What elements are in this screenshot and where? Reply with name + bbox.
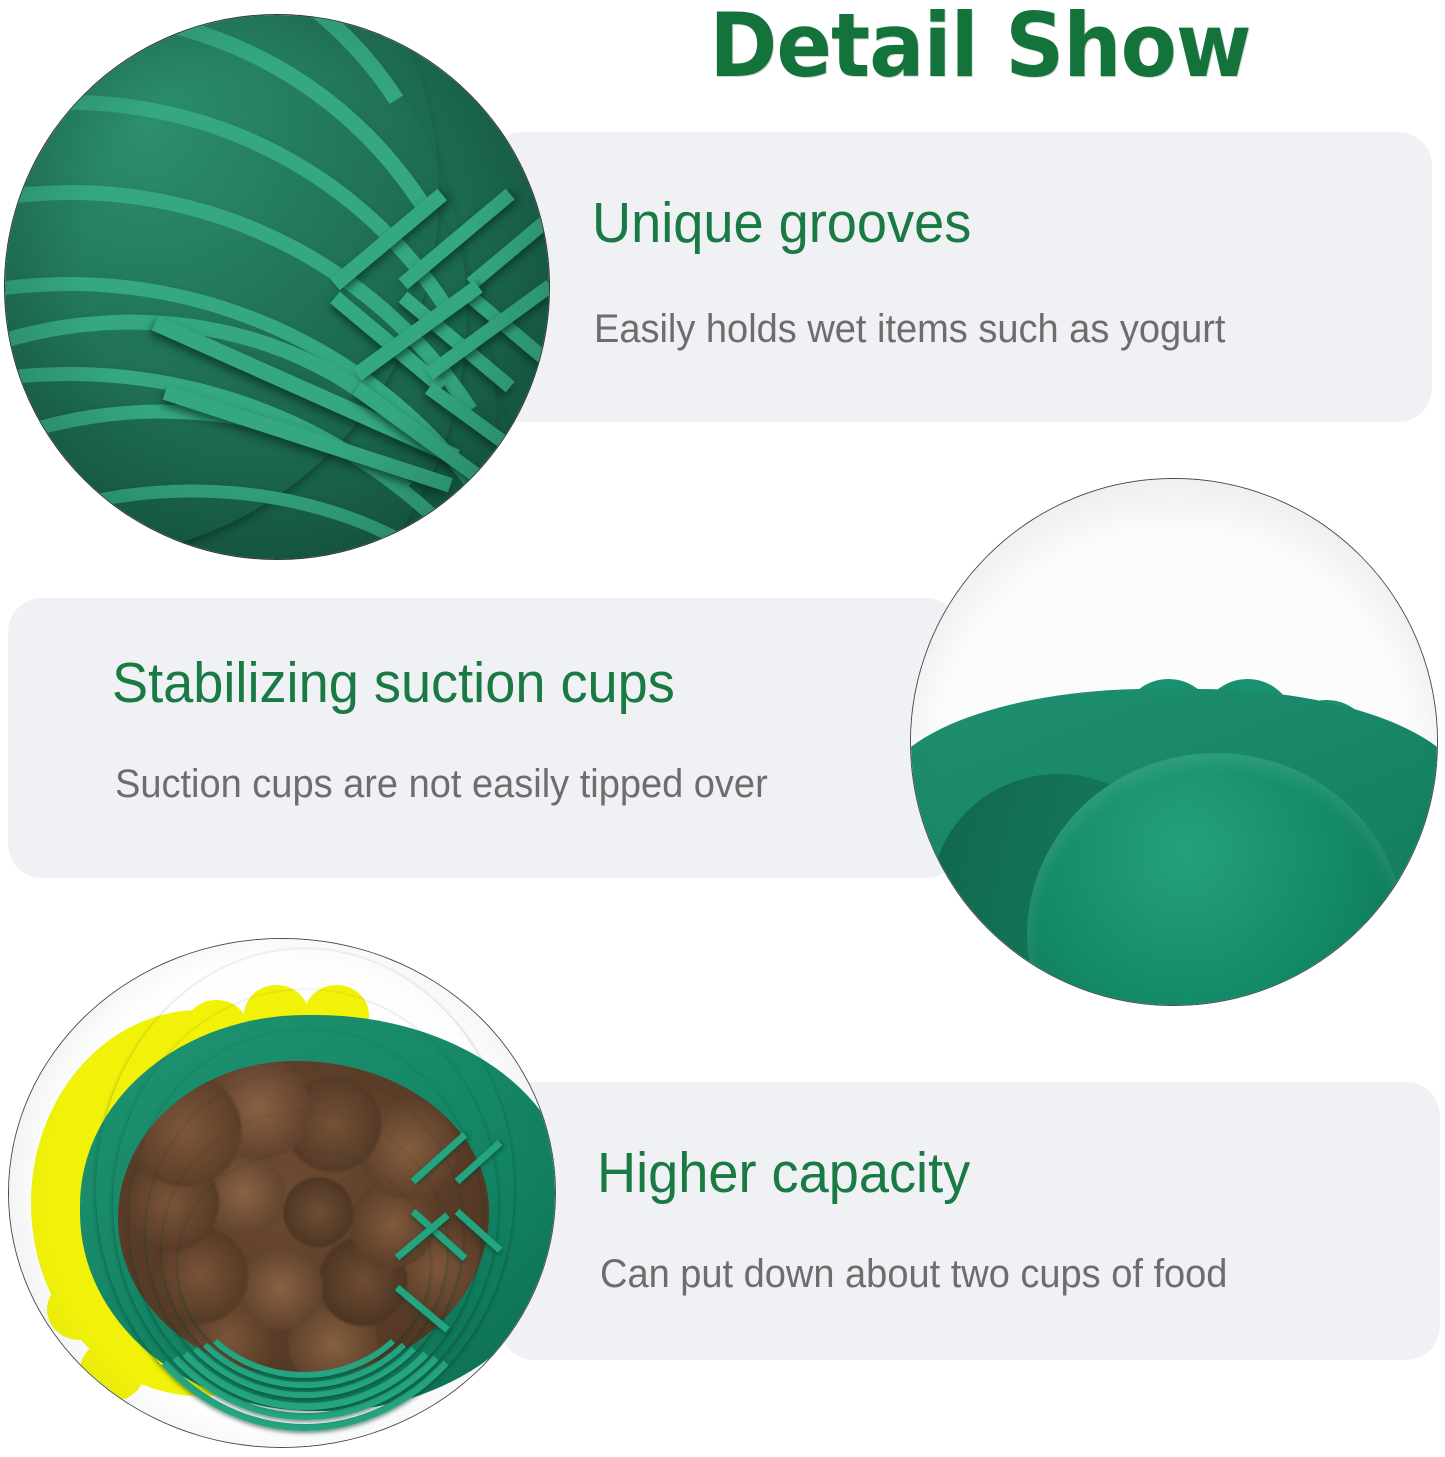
feature-panel-stabilizing-suction-cups [8, 598, 960, 878]
feature-heading-unique-grooves: Unique grooves [592, 190, 971, 256]
grooves-vignette [5, 15, 549, 559]
feature-heading-higher-capacity: Higher capacity [597, 1140, 970, 1206]
suction-cup-photo [911, 479, 1437, 1005]
feature-panel-higher-capacity [500, 1082, 1440, 1360]
feature-subtext-stabilizing-suction-cups: Suction cups are not easily tipped over [115, 762, 768, 807]
feature-image-higher-capacity [8, 938, 556, 1448]
feature-panel-unique-grooves [488, 132, 1432, 422]
bowl-kibble-photo [9, 939, 555, 1447]
feature-heading-stabilizing-suction-cups: Stabilizing suction cups [112, 650, 675, 716]
feature-subtext-higher-capacity: Can put down about two cups of food [600, 1252, 1227, 1297]
page-title: Detail Show [627, 0, 1334, 97]
feature-image-stabilizing-suction-cups [910, 478, 1438, 1006]
grooves-photo [5, 15, 549, 559]
feature-subtext-unique-grooves: Easily holds wet items such as yogurt [594, 307, 1225, 352]
detail-show-infographic: Detail Show Unique grooves Easily holds … [0, 0, 1445, 1457]
feature-image-unique-grooves [4, 14, 550, 560]
